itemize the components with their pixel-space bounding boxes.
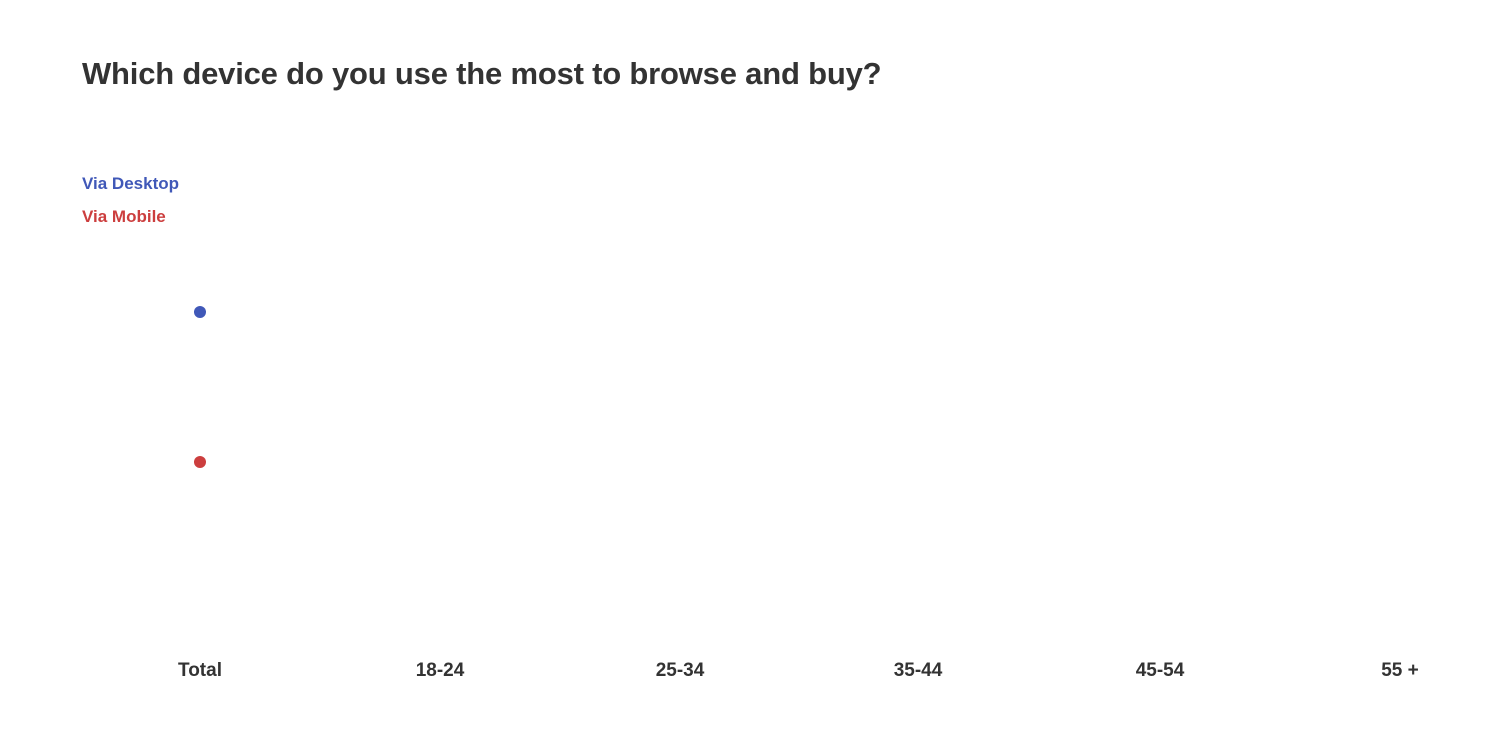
x-tick-label: 18-24: [416, 660, 465, 682]
data-point-via-mobile[interactable]: [194, 456, 206, 468]
x-tick-label: 35-44: [894, 660, 943, 682]
data-point-via-desktop[interactable]: [194, 306, 206, 318]
legend-label-via-mobile: Via Mobile: [82, 207, 166, 226]
chart-container: Which device do you use the most to brow…: [0, 0, 1500, 750]
legend-label-via-desktop: Via Desktop: [82, 174, 179, 193]
plot-surface: [0, 245, 1500, 645]
chart-legend: Via Desktop Via Mobile: [82, 167, 179, 233]
legend-item-via-mobile[interactable]: Via Mobile: [82, 200, 179, 233]
x-axis: Total18-2425-3435-4445-5455 +: [0, 660, 1500, 705]
plot-area: [0, 245, 1500, 645]
x-tick-label: Total: [178, 660, 222, 682]
x-tick-label: 55 +: [1381, 660, 1419, 682]
x-tick-label: 45-54: [1136, 660, 1185, 682]
legend-item-via-desktop[interactable]: Via Desktop: [82, 167, 179, 200]
chart-title: Which device do you use the most to brow…: [82, 55, 881, 92]
x-tick-label: 25-34: [656, 660, 705, 682]
